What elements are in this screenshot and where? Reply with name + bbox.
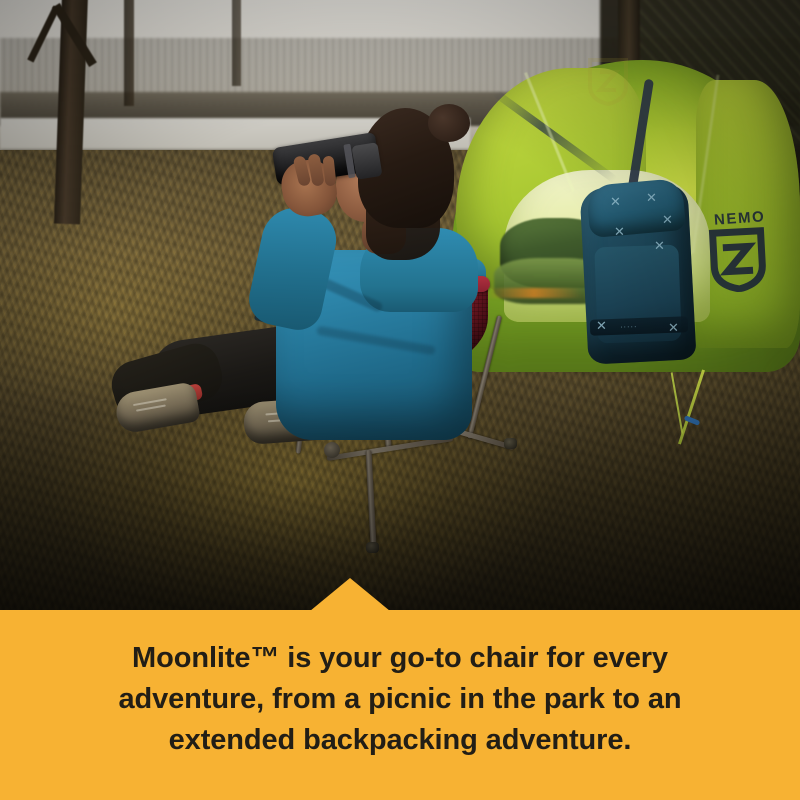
- chair-foot: [366, 542, 379, 553]
- nemo-shield-icon: [708, 227, 767, 294]
- caption-panel: Moonlite™ is your go-to chair for every …: [0, 610, 800, 800]
- person-hair-bun: [428, 104, 470, 142]
- product-lifestyle-card: NEMO ✕ ✕ ✕ ✕ ✕ ✕ ✕ ·····: [0, 0, 800, 800]
- backpack-daisy-loop: ✕: [668, 322, 681, 335]
- thermos-cap: [352, 142, 383, 180]
- person-seated: [110, 104, 470, 464]
- backpack-daisy-loop: ✕: [654, 240, 667, 253]
- caption-pointer-notch: [310, 578, 390, 611]
- chair-leg: [365, 450, 376, 546]
- backpack-daisy-loop: ✕: [614, 226, 627, 239]
- caption-line-3: extended backpacking adventure.: [58, 720, 742, 761]
- backpack-brand-label: ·····: [620, 322, 638, 332]
- nemo-wordmark: NEMO: [713, 208, 765, 229]
- backpack-lid: [586, 178, 686, 238]
- caption-line-2: adventure, from a picnic in the park to …: [58, 679, 742, 720]
- backpack-daisy-loop: ✕: [646, 192, 659, 205]
- nemo-shield-icon: [586, 56, 630, 106]
- backpack-daisy-loop: ✕: [596, 320, 609, 333]
- backpack-daisy-loop: ✕: [662, 214, 675, 227]
- tree-trunk-secondary: [232, 0, 241, 86]
- caption-text: Moonlite™ is your go-to chair for every …: [0, 638, 800, 761]
- chair-foot: [504, 438, 517, 449]
- tree-trunk-secondary: [124, 0, 134, 106]
- backpack-daisy-loop: ✕: [610, 196, 623, 209]
- lifestyle-photo: NEMO ✕ ✕ ✕ ✕ ✕ ✕ ✕ ·····: [0, 0, 800, 612]
- caption-line-1: Moonlite™ is your go-to chair for every: [58, 638, 742, 679]
